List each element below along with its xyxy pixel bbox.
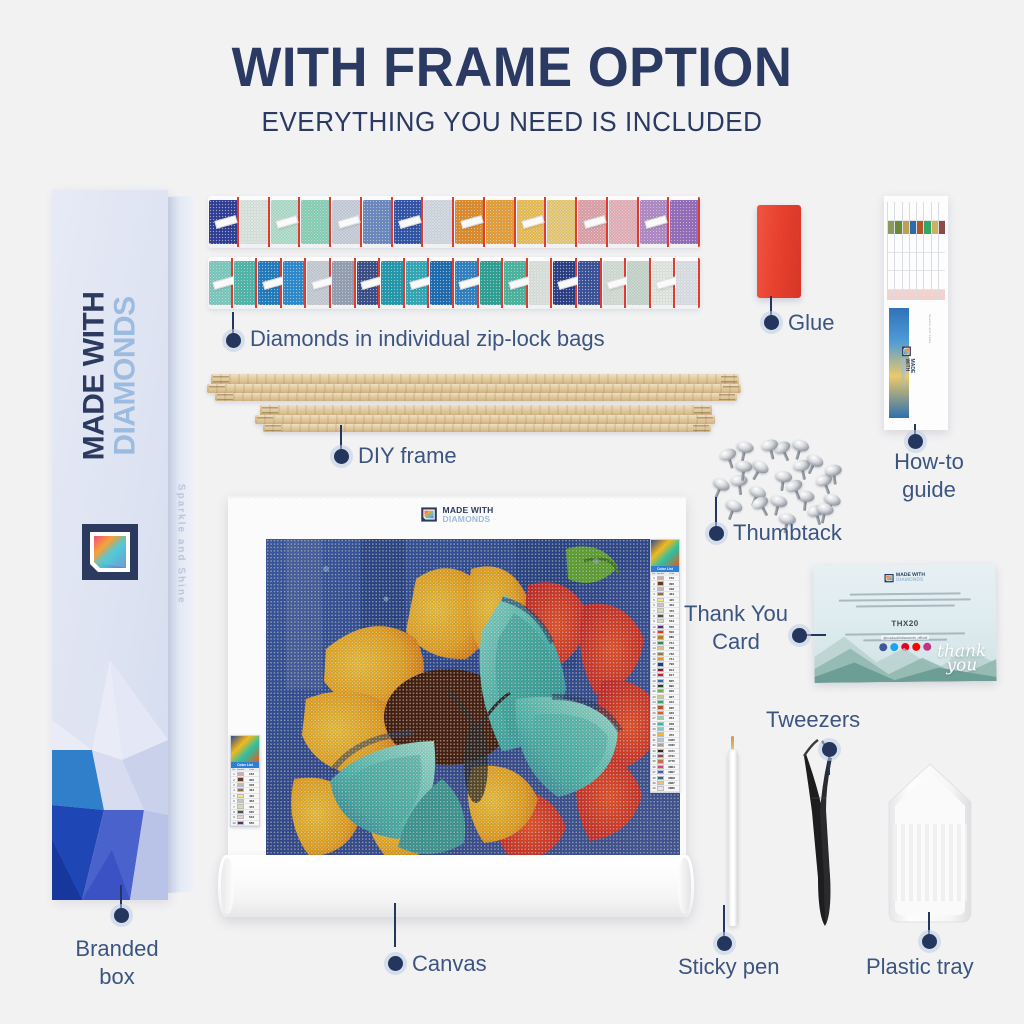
thumbtack-head bbox=[750, 494, 770, 512]
color-row-code: 814 bbox=[664, 668, 679, 672]
color-row-swatch bbox=[657, 759, 664, 763]
diamond-bag bbox=[546, 196, 577, 248]
color-row-code: 543 bbox=[244, 815, 259, 819]
diamond-bag bbox=[454, 257, 479, 309]
callout-label-box: Branded box bbox=[62, 935, 172, 990]
box-side-panel: Sparkle and Shine bbox=[168, 196, 194, 893]
color-row-swatch bbox=[657, 625, 664, 629]
bag-zip-seal bbox=[698, 258, 700, 308]
color-row-swatch bbox=[237, 804, 244, 808]
color-row-code: 954 bbox=[664, 716, 679, 720]
box-tagline: Sparkle and Shine bbox=[176, 484, 187, 605]
bag-beads bbox=[283, 261, 306, 305]
color-row-code: 535 bbox=[664, 614, 679, 618]
callout-label-card: Thank You Card bbox=[683, 600, 789, 655]
tweezers bbox=[800, 738, 846, 928]
color-row-swatch bbox=[657, 738, 664, 742]
color-row-code: 3721 bbox=[664, 754, 679, 758]
color-row-swatch bbox=[657, 641, 664, 645]
bag-beads bbox=[301, 200, 330, 244]
guide-red-cell bbox=[939, 290, 945, 300]
bag-beads bbox=[529, 261, 552, 305]
plastic-tray bbox=[875, 762, 985, 927]
color-row-swatch bbox=[657, 749, 664, 753]
color-row-swatch bbox=[657, 619, 664, 623]
box-brand-area: MADE WITH DIAMONDS bbox=[52, 228, 168, 518]
color-row-swatch bbox=[237, 810, 244, 814]
color-row-code: 3807 bbox=[664, 770, 679, 774]
color-list-left: Color ListNo.SymbolColor1152230033184434… bbox=[230, 735, 260, 827]
diamond-bag bbox=[602, 257, 627, 309]
thumbtack-head bbox=[735, 460, 753, 473]
diamond-bag bbox=[485, 196, 516, 248]
diamond-bag-row-2 bbox=[208, 257, 700, 309]
diamond-bag-row-1 bbox=[208, 196, 700, 248]
bag-zip-seal bbox=[698, 197, 700, 247]
guide-table-column bbox=[887, 202, 894, 300]
color-row-code: 434 bbox=[244, 788, 259, 792]
bag-beads bbox=[480, 261, 503, 305]
diamond-bag bbox=[257, 257, 282, 309]
diamond-bag bbox=[516, 196, 547, 248]
card-message-line-2 bbox=[839, 598, 971, 601]
color-row-code: 535 bbox=[244, 810, 259, 814]
color-row-swatch bbox=[657, 776, 664, 780]
low-poly-pattern bbox=[52, 600, 168, 900]
callout-label-frame: DIY frame bbox=[358, 444, 457, 469]
diamond-bag bbox=[331, 196, 362, 248]
diamond-bag bbox=[479, 257, 504, 309]
color-row-swatch bbox=[657, 652, 664, 656]
color-row-code: 680 bbox=[664, 635, 679, 639]
color-row-code: 741 bbox=[664, 657, 679, 661]
color-row-swatch bbox=[657, 754, 664, 758]
color-row-swatch bbox=[657, 689, 664, 693]
guide-table-column bbox=[902, 202, 909, 300]
color-row-swatch bbox=[657, 598, 664, 602]
bag-beads bbox=[609, 200, 638, 244]
diamond-bag bbox=[362, 196, 393, 248]
callout-label-canvas: Canvas bbox=[412, 952, 487, 977]
callout-label-thumbtack: Thumbtack bbox=[733, 521, 842, 546]
color-row-code: 912 bbox=[664, 700, 679, 704]
tray-ribs bbox=[893, 824, 967, 901]
color-row-swatch bbox=[657, 603, 664, 607]
card-message-line-3 bbox=[855, 604, 954, 607]
color-row-code: 958 bbox=[664, 722, 679, 726]
brand-line-2: DIAMONDS bbox=[109, 292, 143, 461]
diamond-bag bbox=[208, 196, 239, 248]
color-row-code: 3827 bbox=[664, 781, 679, 785]
color-row-code: 318 bbox=[664, 587, 679, 591]
guide-table-column bbox=[894, 202, 901, 300]
color-row-swatch bbox=[657, 727, 664, 731]
callout-dot-tray bbox=[922, 934, 937, 949]
page-title: WITH FRAME OPTION bbox=[31, 34, 994, 99]
callout-line-canvas bbox=[394, 903, 396, 947]
bag-beads bbox=[234, 261, 257, 305]
color-row-code: 946 bbox=[664, 711, 679, 715]
color-row-swatch bbox=[657, 592, 664, 596]
diy-frame bbox=[205, 372, 745, 452]
canvas-artwork bbox=[266, 539, 680, 867]
bag-beads bbox=[676, 261, 699, 305]
thumbtack-head bbox=[718, 447, 738, 463]
callout-label-tweezers: Tweezers bbox=[766, 708, 860, 733]
callout-dot-box bbox=[114, 908, 129, 923]
color-list-row: 403866 bbox=[651, 786, 679, 791]
thumbtack-head bbox=[791, 438, 810, 453]
color-row-swatch bbox=[657, 743, 664, 747]
color-row-code: 550 bbox=[244, 821, 259, 825]
guide-brand-line-1: MADE WITH bbox=[904, 359, 914, 387]
color-row-code: 3032 bbox=[664, 743, 679, 747]
diamond-bag bbox=[669, 196, 700, 248]
diamond-bag bbox=[423, 196, 454, 248]
color-row-code: 453 bbox=[244, 799, 259, 803]
branded-box: Sparkle and Shine MADE WITH DIAMONDS bbox=[52, 190, 194, 900]
box-front-panel: MADE WITH DIAMONDS bbox=[52, 190, 168, 900]
bag-beads bbox=[578, 261, 601, 305]
diamond-bag bbox=[577, 257, 602, 309]
color-row-swatch bbox=[237, 794, 244, 798]
guide-table-column bbox=[909, 202, 916, 300]
diamond-bag bbox=[405, 257, 430, 309]
bag-beads bbox=[547, 200, 576, 244]
color-row-swatch bbox=[657, 581, 664, 585]
callout-label-glue: Glue bbox=[788, 311, 834, 336]
bag-beads bbox=[381, 261, 404, 305]
color-row-swatch bbox=[237, 777, 244, 781]
bag-beads bbox=[240, 200, 269, 244]
color-row-swatch bbox=[657, 662, 664, 666]
color-row-swatch bbox=[657, 765, 664, 769]
callout-label-pen: Sticky pen bbox=[678, 955, 780, 980]
color-row-code: 3776 bbox=[664, 759, 679, 763]
color-row-swatch bbox=[657, 668, 664, 672]
guide-table-column bbox=[931, 202, 938, 300]
card-brand-line-2: DIAMONDS bbox=[896, 578, 925, 583]
color-row-swatch bbox=[237, 788, 244, 792]
diamond-bag bbox=[429, 257, 454, 309]
color-row-code: 300 bbox=[244, 778, 259, 782]
color-row-swatch bbox=[657, 722, 664, 726]
canvas-sheet: MADE WITH DIAMONDS bbox=[228, 497, 686, 877]
color-row-swatch bbox=[657, 614, 664, 618]
color-row-code: 434 bbox=[664, 592, 679, 596]
color-row-code: 817 bbox=[664, 673, 679, 677]
callout-dot-frame bbox=[334, 449, 349, 464]
diamond-bag bbox=[356, 257, 381, 309]
color-row-code: 701 bbox=[664, 641, 679, 645]
thumbtack-head bbox=[712, 476, 732, 493]
canvas-brand-line-2: DIAMONDS bbox=[443, 515, 494, 524]
color-row-swatch bbox=[657, 587, 664, 591]
color-row-code: 920 bbox=[664, 706, 679, 710]
color-row-code: 300 bbox=[664, 582, 679, 586]
diamond-bag bbox=[577, 196, 608, 248]
guide-brand-line-2: DIAMONDS bbox=[899, 359, 904, 387]
diamond-bag bbox=[651, 257, 676, 309]
color-row-code: 152 bbox=[664, 576, 679, 580]
diamond-bag bbox=[282, 257, 307, 309]
color-row-code: 543 bbox=[664, 619, 679, 623]
bag-beads bbox=[627, 261, 650, 305]
color-row-code: 972 bbox=[664, 733, 679, 737]
color-row-swatch bbox=[657, 716, 664, 720]
color-row-code: 728 bbox=[664, 646, 679, 650]
color-row-code: 3866 bbox=[664, 786, 679, 790]
bag-beads bbox=[424, 200, 453, 244]
thumbtack-head bbox=[730, 474, 748, 487]
guide-tagline: Sparkle and Shine bbox=[928, 314, 932, 374]
color-list-thumbnail bbox=[651, 540, 679, 566]
bag-beads bbox=[670, 200, 699, 244]
diamond-bag bbox=[306, 257, 331, 309]
color-row-code: 3804 bbox=[664, 765, 679, 769]
color-row-swatch bbox=[657, 576, 664, 580]
callout-dot-tweezers bbox=[822, 742, 837, 757]
thumbtack-head bbox=[769, 494, 788, 509]
diamond-bag bbox=[528, 257, 553, 309]
color-row-swatch bbox=[237, 772, 244, 776]
sticky-pen bbox=[726, 734, 740, 930]
diamond-bag bbox=[626, 257, 651, 309]
color-row-code: 825 bbox=[664, 679, 679, 683]
diamond-bag bbox=[300, 196, 331, 248]
thumbtack-pile bbox=[714, 436, 850, 528]
guide-color-swatch bbox=[939, 221, 945, 234]
color-row-swatch bbox=[237, 821, 244, 825]
bag-beads bbox=[332, 261, 355, 305]
diamond-bag bbox=[233, 257, 258, 309]
diamond-bag bbox=[331, 257, 356, 309]
guide-brand-logo: MADE WITH DIAMONDS bbox=[899, 346, 914, 386]
card-brand-logo: MADE WITH DIAMONDS bbox=[884, 573, 925, 583]
thumbtack-head bbox=[824, 464, 842, 477]
card-message bbox=[830, 592, 980, 612]
color-row-swatch bbox=[237, 783, 244, 787]
color-row-swatch bbox=[657, 695, 664, 699]
diamond-bag bbox=[239, 196, 270, 248]
color-row-swatch bbox=[657, 700, 664, 704]
color-row-code: 732 bbox=[664, 652, 679, 656]
callout-dot-card bbox=[792, 628, 807, 643]
callout-dot-guide bbox=[908, 434, 923, 449]
callout-dot-diamonds bbox=[226, 333, 241, 348]
color-row-code: 3371 bbox=[664, 749, 679, 753]
box-brand-text: MADE WITH DIAMONDS bbox=[78, 292, 143, 461]
color-row-code: 907 bbox=[664, 695, 679, 699]
color-row-swatch bbox=[657, 781, 664, 785]
color-row-swatch bbox=[237, 815, 244, 819]
callout-dot-glue bbox=[764, 315, 779, 330]
page-subtitle: EVERYTHING YOU NEED IS INCLUDED bbox=[36, 106, 988, 138]
infographic-canvas: WITH FRAME OPTION EVERYTHING YOU NEED IS… bbox=[0, 0, 1024, 1024]
color-list-thumbnail bbox=[231, 736, 259, 762]
color-row-swatch bbox=[657, 657, 664, 661]
discount-code: THX20 bbox=[814, 618, 996, 629]
thank-you-card: MADE WITH DIAMONDS THX20 @madewithdiamon… bbox=[813, 564, 996, 683]
color-row-swatch bbox=[657, 646, 664, 650]
color-row-code: 3808 bbox=[664, 776, 679, 780]
color-row-code: 445 bbox=[664, 598, 679, 602]
thumbtack-head bbox=[724, 498, 744, 514]
diamond-bag bbox=[639, 196, 670, 248]
color-row-swatch bbox=[657, 684, 664, 688]
diamond-bag bbox=[380, 257, 405, 309]
color-row-code: 472 bbox=[244, 805, 259, 809]
diamond-bag bbox=[503, 257, 528, 309]
rolled-canvas bbox=[218, 855, 694, 917]
bag-beads bbox=[430, 261, 453, 305]
guide-color-table bbox=[887, 202, 945, 300]
color-row-code: 550 bbox=[664, 625, 679, 629]
color-row-swatch bbox=[657, 786, 664, 790]
callout-label-tray: Plastic tray bbox=[866, 955, 974, 980]
bag-beads bbox=[363, 200, 392, 244]
color-row-swatch bbox=[657, 630, 664, 634]
callout-dot-pen bbox=[717, 936, 732, 951]
brand-line-1: MADE WITH bbox=[78, 292, 112, 461]
diamond-bag bbox=[393, 196, 424, 248]
color-row-code: 152 bbox=[244, 772, 259, 776]
diamond-logo-icon bbox=[78, 520, 142, 584]
pen-body bbox=[728, 750, 738, 926]
color-list-right: Color ListNo.SymbolColor1152230033184434… bbox=[650, 539, 680, 793]
color-row-swatch bbox=[657, 770, 664, 774]
color-row-swatch bbox=[657, 608, 664, 612]
thumbtack-head bbox=[751, 458, 771, 476]
guide-table-column bbox=[923, 202, 930, 300]
callout-label-guide: How-to guide bbox=[884, 448, 974, 503]
color-list-row: 10550 bbox=[231, 821, 259, 826]
callout-label-diamonds: Diamonds in individual zip-lock bags bbox=[250, 327, 605, 352]
color-row-code: 453 bbox=[664, 603, 679, 607]
diamond-bag bbox=[208, 257, 233, 309]
canvas-brand-logo: MADE WITH DIAMONDS bbox=[421, 506, 494, 523]
diamond-bag bbox=[454, 196, 485, 248]
diamond-bag bbox=[270, 196, 301, 248]
color-row-code: 472 bbox=[664, 609, 679, 613]
color-row-swatch bbox=[657, 732, 664, 736]
color-row-swatch bbox=[657, 705, 664, 709]
how-to-guide-booklet: MADE WITH DIAMONDS Sparkle and Shine bbox=[884, 196, 948, 430]
color-row-code: 445 bbox=[244, 794, 259, 798]
color-row-swatch bbox=[237, 799, 244, 803]
glue-stick bbox=[757, 205, 801, 298]
color-row-swatch bbox=[657, 635, 664, 639]
thumbtack-head bbox=[736, 440, 755, 454]
color-row-swatch bbox=[657, 679, 664, 683]
diamond-bag bbox=[608, 196, 639, 248]
color-row-code: 890 bbox=[664, 684, 679, 688]
color-row-code: 606 bbox=[664, 630, 679, 634]
color-row-swatch bbox=[657, 673, 664, 677]
color-row-code: 3325 bbox=[664, 738, 679, 742]
guide-table-column bbox=[916, 202, 923, 300]
diamond-bag bbox=[552, 257, 577, 309]
color-row-code: 318 bbox=[244, 783, 259, 787]
color-row-code: 906 bbox=[664, 689, 679, 693]
color-row-code: 959 bbox=[664, 727, 679, 731]
bag-beads bbox=[486, 200, 515, 244]
color-row-swatch bbox=[657, 711, 664, 715]
callout-dot-canvas bbox=[388, 956, 403, 971]
thank-you-script: thank you bbox=[937, 645, 986, 673]
color-row-code: 796 bbox=[664, 662, 679, 666]
guide-table-column bbox=[938, 202, 945, 300]
callout-dot-thumbtack bbox=[709, 526, 724, 541]
diamond-bag bbox=[675, 257, 700, 309]
card-message-line-1 bbox=[849, 592, 960, 595]
